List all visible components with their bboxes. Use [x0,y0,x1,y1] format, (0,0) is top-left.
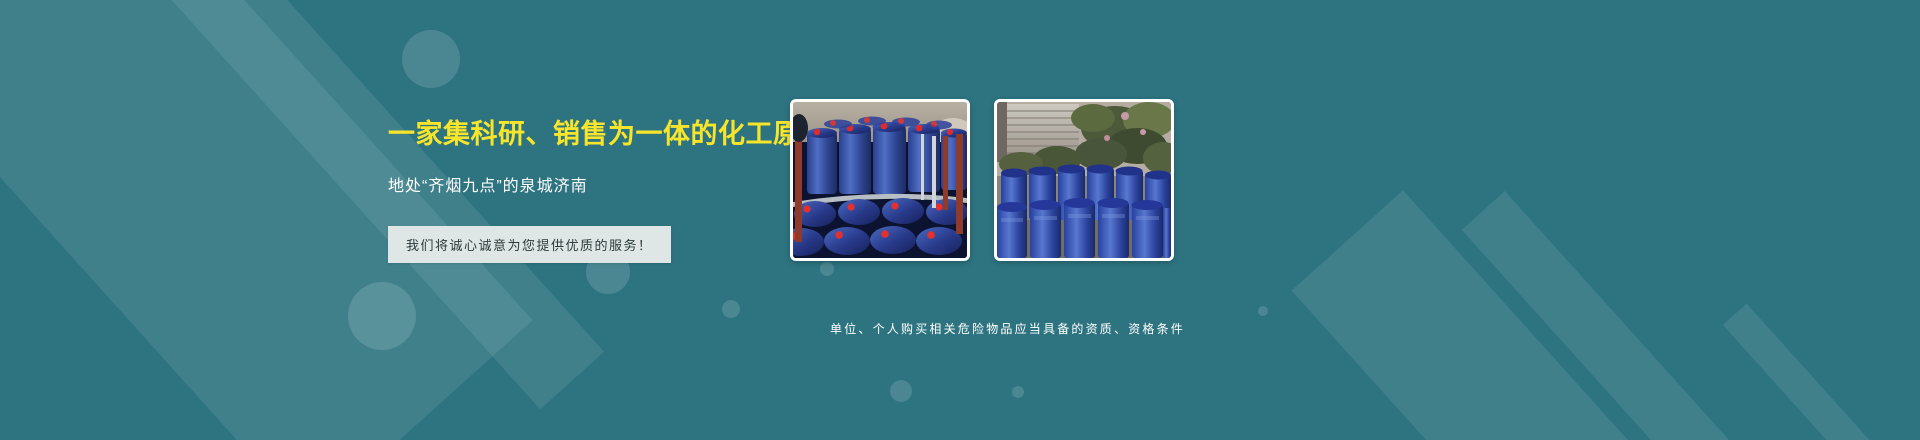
drums-in-cage-image [793,102,967,258]
service-promise-button[interactable]: 我们将诚心诚意为您提供优质的服务！ [388,226,671,263]
circle-decoration [1258,306,1268,316]
diagonal-stripe-decoration [1292,190,1920,440]
product-photo-drums-outdoors[interactable] [994,99,1174,261]
compliance-caption: 单位、个人购买相关危险物品应当具备的资质、资格条件 [830,320,1185,337]
drums-outdoors-image [997,102,1171,258]
product-photo-drums-in-cage[interactable] [790,99,970,261]
diagonal-stripe-decoration [1723,304,1920,440]
circle-decoration [722,300,740,318]
banner-subheadline: 地处“齐烟九点”的泉城济南 [388,150,808,196]
circle-decoration [348,282,416,350]
banner-copy-block: 一家集科研、销售为一体的化工原料公司 地处“齐烟九点”的泉城济南 我们将诚心诚意… [388,118,808,263]
diagonal-stripe-decoration [1462,191,1920,440]
circle-decoration [402,30,460,88]
banner-headline: 一家集科研、销售为一体的化工原料公司 [388,118,808,150]
promo-banner: 一家集科研、销售为一体的化工原料公司 地处“齐烟九点”的泉城济南 我们将诚心诚意… [0,0,1920,440]
circle-decoration [1012,386,1024,398]
circle-decoration [820,262,834,276]
circle-decoration [890,380,912,402]
